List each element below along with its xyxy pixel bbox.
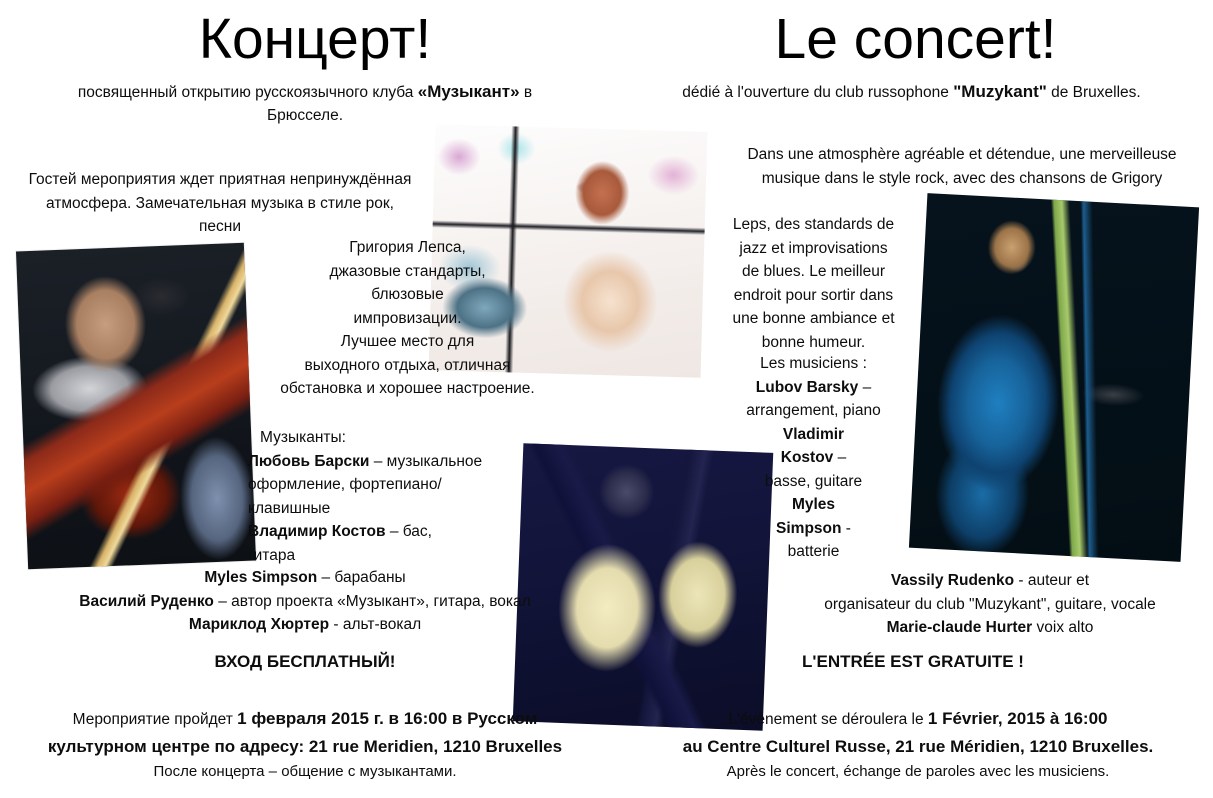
- musician-role-barsky-fr: arrangement, piano: [706, 399, 921, 423]
- intro-paragraph-french: Dans une atmosphère agréable et détendue…: [722, 143, 1202, 190]
- music-fr-line-6: bonne humeur.: [706, 331, 921, 355]
- musician-row-rudenko-fr: Vassily Rudenko - auteur et: [780, 569, 1200, 593]
- musician-role-rudenko-fr-1: - auteur et: [1014, 572, 1089, 589]
- music-fr-line-4: endroit pour sortir dans: [706, 284, 921, 308]
- music-fr-line-1: Leps, des standards de: [706, 213, 921, 237]
- intro-fr-line-1: Dans une atmosphère agréable et détendue…: [722, 143, 1202, 167]
- music-ru-line-3: блюзовые: [245, 283, 570, 307]
- musicians-heading-french: Les musiciens :: [706, 352, 921, 376]
- musician-name-simpson-fr-2: Simpson -: [706, 517, 921, 541]
- music-fr-line-5: une bonne ambiance et: [706, 307, 921, 331]
- musician-role-kostov-fr: basse, guitare: [706, 470, 921, 494]
- intro-ru-line-3: песни: [10, 215, 430, 239]
- after-concert-russian: После концерта – общение с музыкантами.: [10, 762, 600, 782]
- musician-name-hurter-fr: Marie-claude Hurter: [887, 619, 1033, 636]
- musician-name-rudenko-fr: Vassily Rudenko: [891, 572, 1014, 589]
- music-ru-line-1: Григория Лепса,: [245, 236, 570, 260]
- musician-row-rudenko: Василий Руденко – автор проекта «Музыкан…: [8, 590, 602, 614]
- musician-role-rudenko-fr-2: organisateur du club "Muzykant", guitare…: [780, 593, 1200, 617]
- free-entry-russian: ВХОД БЕСПЛАТНЫЙ!: [8, 652, 602, 672]
- musician-row-hurter-fr: Marie-claude Hurter voix alto: [780, 616, 1200, 640]
- musician-name-rudenko: Василий Руденко: [79, 593, 214, 610]
- musician-role-barsky-1: – музыкальное: [369, 453, 482, 470]
- music-paragraph-russian: Григория Лепса, джазовые стандарты, блюз…: [245, 236, 570, 401]
- musician-role-hurter: - альт-вокал: [329, 616, 421, 633]
- musician-name-hurter: Мариклод Хюртер: [189, 616, 329, 633]
- venue-ru-bold-1: 1 февраля 2015 г. в 16:00 в Русском: [237, 709, 537, 728]
- page-title-french: Le concert!: [610, 0, 1213, 70]
- musician-role-barsky-3: клавишные: [248, 497, 548, 521]
- after-concert-french: Après le concert, échange de paroles ave…: [630, 762, 1206, 782]
- musician-name-simpson-fr-1: Myles: [706, 493, 921, 517]
- musician-role-kostov-2: гитара: [248, 544, 548, 568]
- music-ru-line-5: Лучшее место для: [245, 330, 570, 354]
- musician-name-kostov: Владимир Костов: [248, 523, 386, 540]
- musicians-wide-russian: Myles Simpson – барабаны Василий Руденко…: [8, 566, 602, 637]
- subtitle-french: dédié à l'ouverture du club russophone "…: [610, 80, 1213, 104]
- music-ru-line-2: джазовые стандарты,: [245, 260, 570, 284]
- musician-dash-kostov-fr: –: [833, 449, 846, 466]
- venue-fr-bold-2: au Centre Culturel Russe, 21 rue Méridie…: [630, 733, 1206, 760]
- music-paragraph-french: Leps, des standards de jazz et improvisa…: [706, 213, 921, 354]
- venue-ru-pre: Мероприятие пройдет: [73, 711, 238, 728]
- musician-name-kostov-fr-2: Kostov –: [706, 446, 921, 470]
- musician-row-kostov: Владимир Костов – бас,: [248, 520, 548, 544]
- intro-fr-line-2: musique dans le style rock, avec des cha…: [722, 167, 1202, 191]
- musician-role-simpson: – барабаны: [317, 569, 405, 586]
- french-column: Le concert! dédié à l'ouverture du club …: [610, 0, 1213, 798]
- musicians-list-russian: Музыканты: Любовь Барски – музыкальное о…: [248, 426, 548, 567]
- subtitle-ru-club: «Музыкант»: [418, 82, 520, 101]
- musicians-list-french: Les musiciens : Lubov Barsky – arrangeme…: [706, 352, 921, 564]
- music-ru-line-6: выходного отдыха, отличная: [245, 354, 570, 378]
- intro-ru-line-1: Гостей мероприятия ждет приятная неприну…: [10, 168, 430, 192]
- musician-name-kostov-fr-1: Vladimir: [706, 423, 921, 447]
- subtitle-fr-pre: dédié à l'ouverture du club russophone: [682, 84, 953, 101]
- concert-poster: Концерт! посвященный открытию русскоязыч…: [0, 0, 1213, 798]
- music-fr-line-3: de blues. Le meilleur: [706, 260, 921, 284]
- musicians-heading-russian: Музыканты:: [248, 426, 548, 450]
- musician-row-barsky: Любовь Барски – музыкальное: [248, 450, 548, 474]
- venue-info-french: L'événement se déroulera le 1 Février, 2…: [630, 705, 1206, 760]
- subtitle-ru-pre: посвященный открытию русскоязычного клуб…: [78, 84, 418, 101]
- musician-row-simpson: Myles Simpson – барабаны: [8, 566, 602, 590]
- musician-role-rudenko: – автор проекта «Музыкант», гитара, вока…: [214, 593, 531, 610]
- musician-role-barsky-2: оформление, фортепиано/: [248, 473, 548, 497]
- subtitle-fr-club: "Muzykant": [953, 82, 1047, 101]
- free-entry-french: L'ENTRÉE EST GRATUITE !: [620, 652, 1206, 672]
- musician-name-barsky: Любовь Барски: [248, 453, 369, 470]
- subtitle-russian: посвященный открытию русскоязычного клуб…: [0, 80, 610, 127]
- musician-role-kostov-1: – бас,: [386, 523, 432, 540]
- subtitle-fr-post: de Bruxelles.: [1047, 84, 1141, 101]
- venue-fr-bold-1: 1 Février, 2015 à 16:00: [928, 709, 1108, 728]
- music-ru-line-7: обстановка и хорошее настроение.: [245, 377, 570, 401]
- musician-role-hurter-fr: voix alto: [1032, 619, 1093, 636]
- page-title-russian: Концерт!: [0, 0, 610, 70]
- intro-ru-line-2: атмосфера. Замечательная музыка в стиле …: [10, 192, 430, 216]
- venue-fr-pre: L'événement se déroulera le: [728, 711, 927, 728]
- venue-ru-bold-2: культурном центре по адресу: 21 rue Meri…: [10, 733, 600, 760]
- musician-dash-barsky-fr: –: [858, 379, 871, 396]
- musician-name-simpson: Myles Simpson: [204, 569, 317, 586]
- intro-paragraph-russian: Гостей мероприятия ждет приятная неприну…: [10, 168, 430, 239]
- musicians-wide-french: Vassily Rudenko - auteur et organisateur…: [780, 569, 1200, 640]
- musician-row-hurter: Мариклод Хюртер - альт-вокал: [8, 613, 602, 637]
- russian-column: Концерт! посвященный открытию русскоязыч…: [0, 0, 610, 798]
- venue-info-russian: Мероприятие пройдет 1 февраля 2015 г. в …: [10, 705, 600, 760]
- musician-role-simpson-fr: batterie: [706, 540, 921, 564]
- musician-dash-simpson-fr: -: [841, 520, 850, 537]
- musician-name-barsky-fr: Lubov Barsky: [756, 379, 859, 396]
- music-ru-line-4: импровизации.: [245, 307, 570, 331]
- musician-row-barsky-fr: Lubov Barsky –: [706, 376, 921, 400]
- music-fr-line-2: jazz et improvisations: [706, 237, 921, 261]
